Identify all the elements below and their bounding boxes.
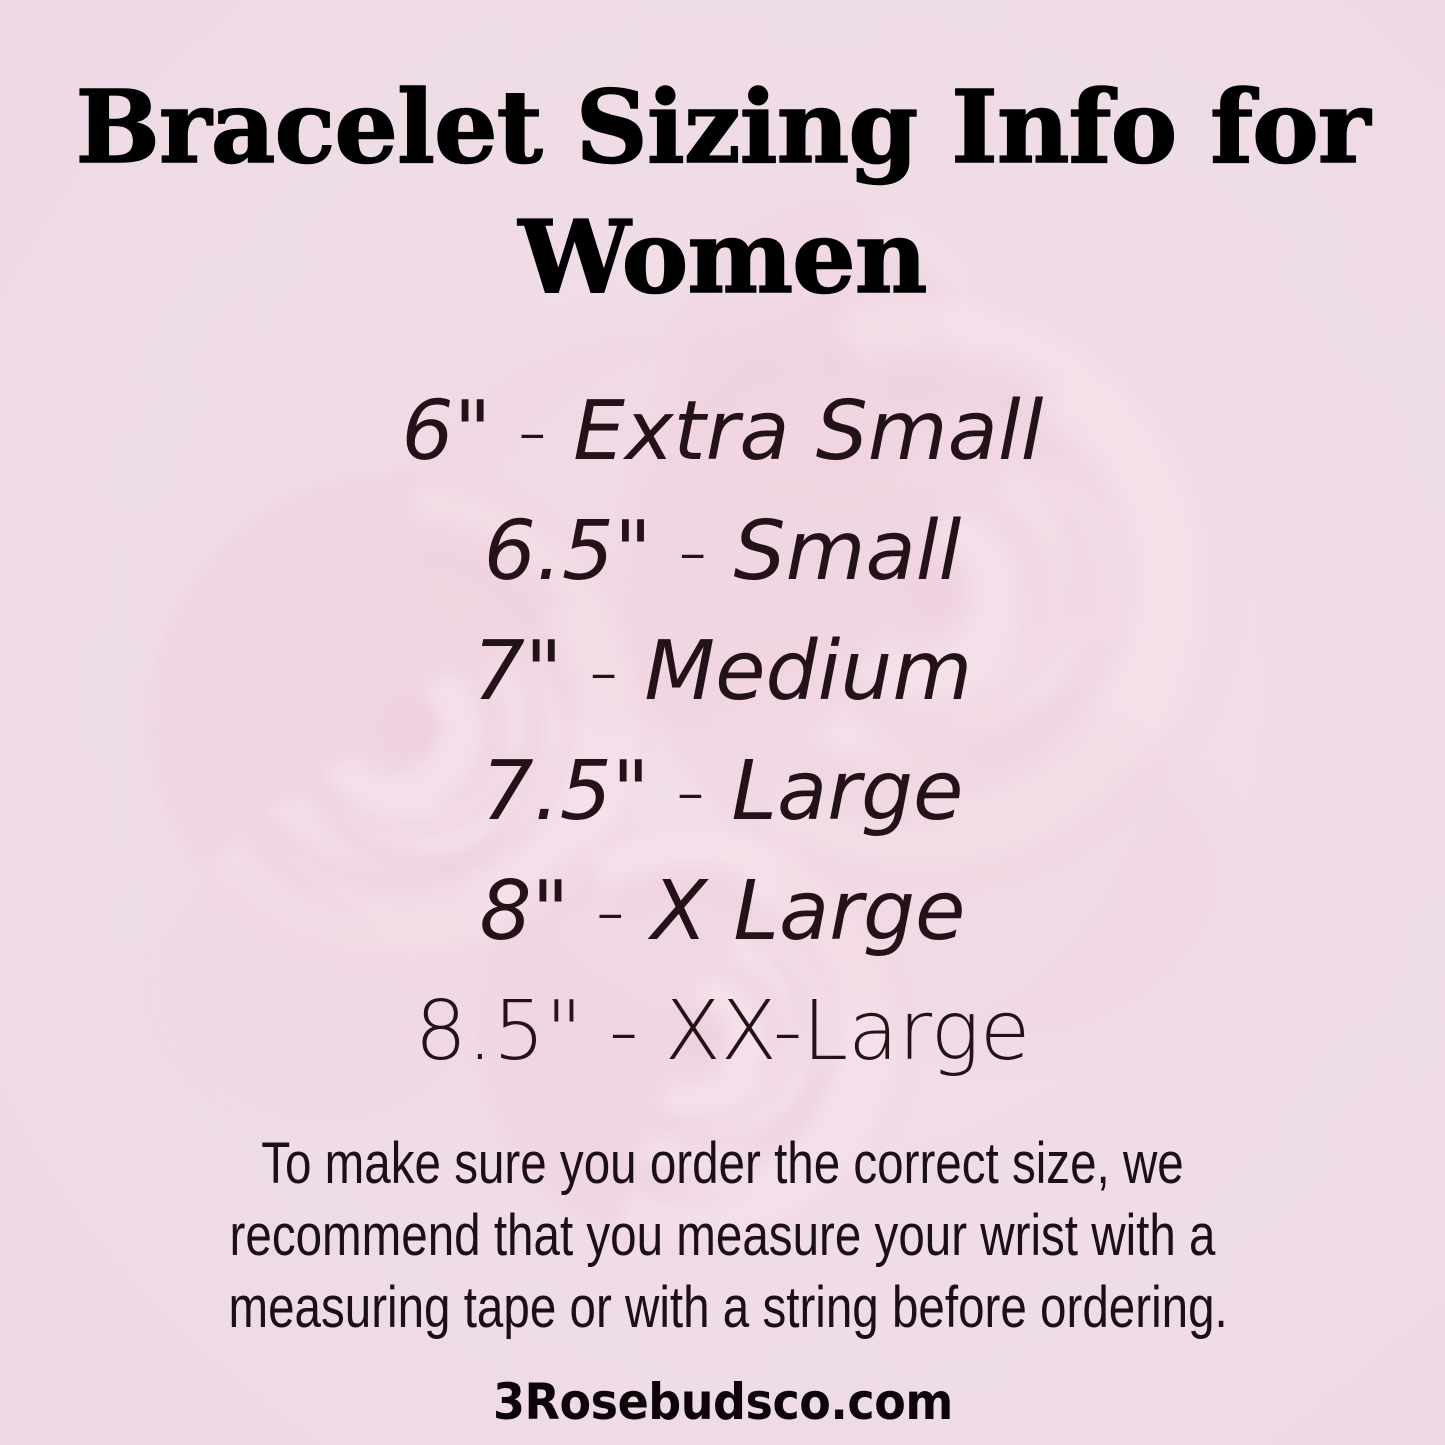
- size-measurement: 6.5": [484, 504, 652, 599]
- website-url: 3Rosebudsco.com: [493, 1372, 953, 1432]
- size-label: Small: [734, 504, 962, 599]
- size-row-medium: 7" - Medium: [0, 612, 1445, 732]
- page-title: Bracelet Sizing Info for Women: [0, 62, 1445, 322]
- instructions-line-3: measuring tape or with a string before o…: [228, 1272, 1216, 1344]
- size-label: XX-Large: [665, 984, 1031, 1079]
- footer: 3Rosebudsco.com: [0, 1372, 1445, 1432]
- sizing-info-graphic: Bracelet Sizing Info for Women 6" - Extr…: [0, 0, 1445, 1445]
- size-separator: -: [569, 864, 651, 959]
- size-label: Extra Small: [573, 384, 1043, 479]
- size-measurement: 6": [402, 384, 492, 479]
- size-measurement: 8": [479, 864, 569, 959]
- size-separator: -: [650, 744, 732, 839]
- size-row-extra-small: 6" - Extra Small: [0, 372, 1445, 492]
- measuring-instructions: To make sure you order the correct size,…: [120, 1128, 1325, 1344]
- size-separator: -: [563, 624, 645, 719]
- size-separator: -: [491, 384, 573, 479]
- size-separator: -: [652, 504, 734, 599]
- size-label: Large: [731, 744, 963, 839]
- size-label: Medium: [644, 624, 972, 719]
- size-row-x-large: 8" - X Large: [0, 852, 1445, 972]
- size-measurement: 7.5": [481, 744, 649, 839]
- instructions-line-2: recommend that you measure your wrist wi…: [228, 1200, 1216, 1272]
- size-separator: -: [583, 984, 665, 1079]
- size-measurement: 7": [473, 624, 563, 719]
- size-row-small: 6.5" - Small: [0, 492, 1445, 612]
- bracelet-size-list: 6" - Extra Small 6.5" - Small 7" - Mediu…: [0, 372, 1445, 1092]
- size-row-large: 7.5" - Large: [0, 732, 1445, 852]
- size-label: X Large: [651, 864, 965, 959]
- instructions-line-1: To make sure you order the correct size,…: [228, 1128, 1216, 1200]
- size-row-xx-large: 8.5" - XX-Large: [0, 972, 1445, 1092]
- page-title-line-2: Women: [0, 192, 1445, 322]
- size-measurement: 8.5": [415, 984, 583, 1079]
- page-title-line-1: Bracelet Sizing Info for: [0, 62, 1445, 192]
